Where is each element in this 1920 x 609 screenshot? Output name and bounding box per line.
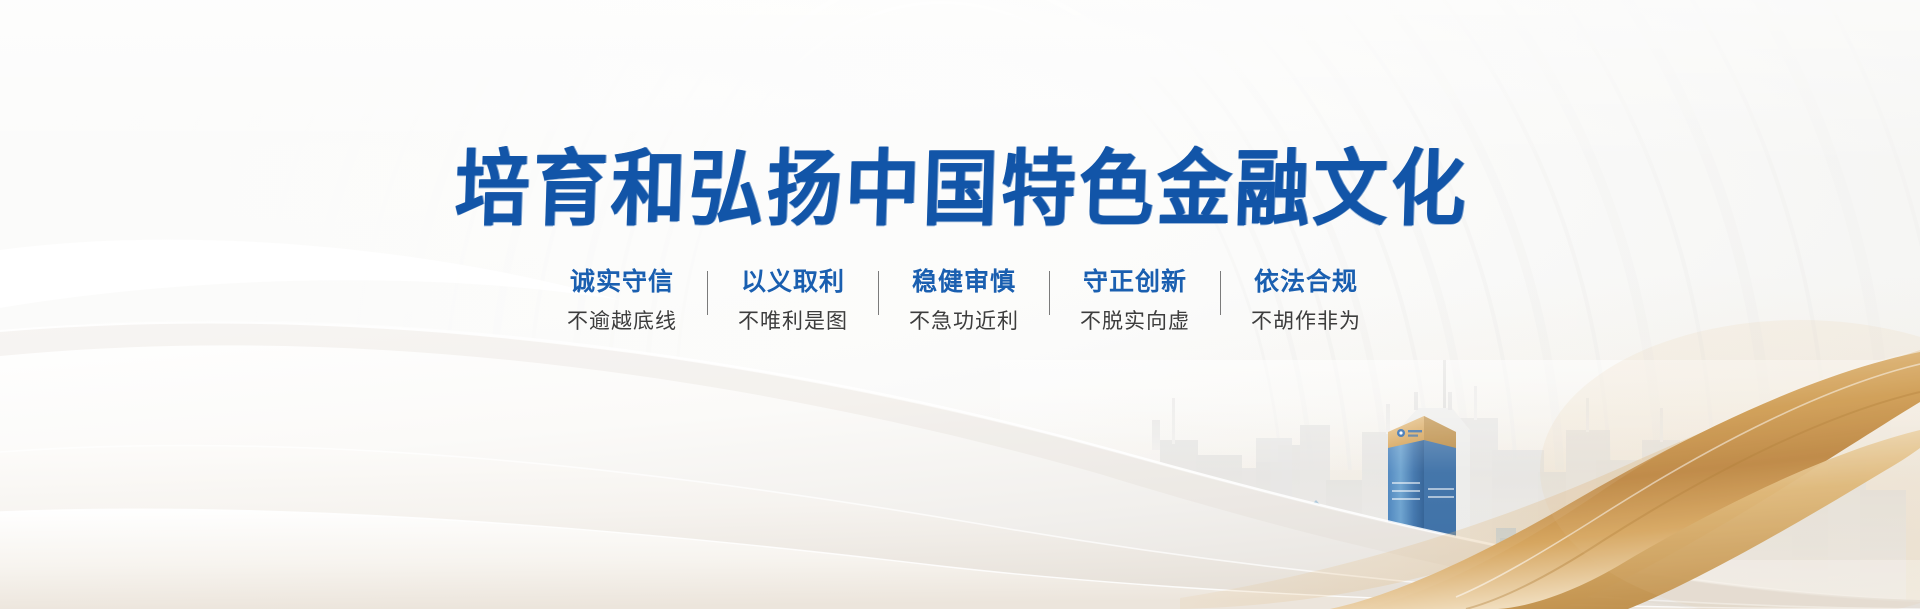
pillar-item-3: 守正创新 不脱实向虚 bbox=[1050, 268, 1220, 334]
pillar-subtitle: 不急功近利 bbox=[909, 310, 1019, 334]
pillar-subtitle: 不逾越底线 bbox=[567, 310, 677, 334]
pillar-item-4: 依法合规 不胡作非为 bbox=[1221, 268, 1391, 334]
pillar-subtitle: 不脱实向虚 bbox=[1080, 310, 1190, 334]
pillar-item-2: 稳健审慎 不急功近利 bbox=[879, 268, 1049, 334]
pillar-title: 诚实守信 bbox=[570, 268, 674, 297]
pillar-title: 稳健审慎 bbox=[912, 268, 1016, 297]
pillar-title: 以义取利 bbox=[741, 268, 845, 297]
pillar-subtitle: 不唯利是图 bbox=[738, 310, 848, 334]
pillar-list: 诚实守信 不逾越底线 以义取利 不唯利是图 稳健审慎 不急功近利 守正创新 不脱… bbox=[537, 268, 1391, 334]
pillar-subtitle: 不胡作非为 bbox=[1251, 310, 1361, 334]
pillar-divider bbox=[1220, 271, 1221, 315]
pillar-item-1: 以义取利 不唯利是图 bbox=[708, 268, 878, 334]
banner-content: 培育和弘扬中国特色金融文化 诚实守信 不逾越底线 以义取利 不唯利是图 稳健审慎… bbox=[0, 0, 1920, 609]
pillar-title: 依法合规 bbox=[1254, 268, 1358, 297]
pillar-item-0: 诚实守信 不逾越底线 bbox=[537, 268, 707, 334]
banner-root: 培育和弘扬中国特色金融文化 诚实守信 不逾越底线 以义取利 不唯利是图 稳健审慎… bbox=[0, 0, 1920, 609]
pillar-title: 守正创新 bbox=[1083, 268, 1187, 297]
pillar-divider bbox=[1049, 271, 1050, 315]
pillar-divider bbox=[707, 271, 708, 315]
pillar-divider bbox=[878, 271, 879, 315]
page-title: 培育和弘扬中国特色金融文化 bbox=[453, 148, 1470, 231]
